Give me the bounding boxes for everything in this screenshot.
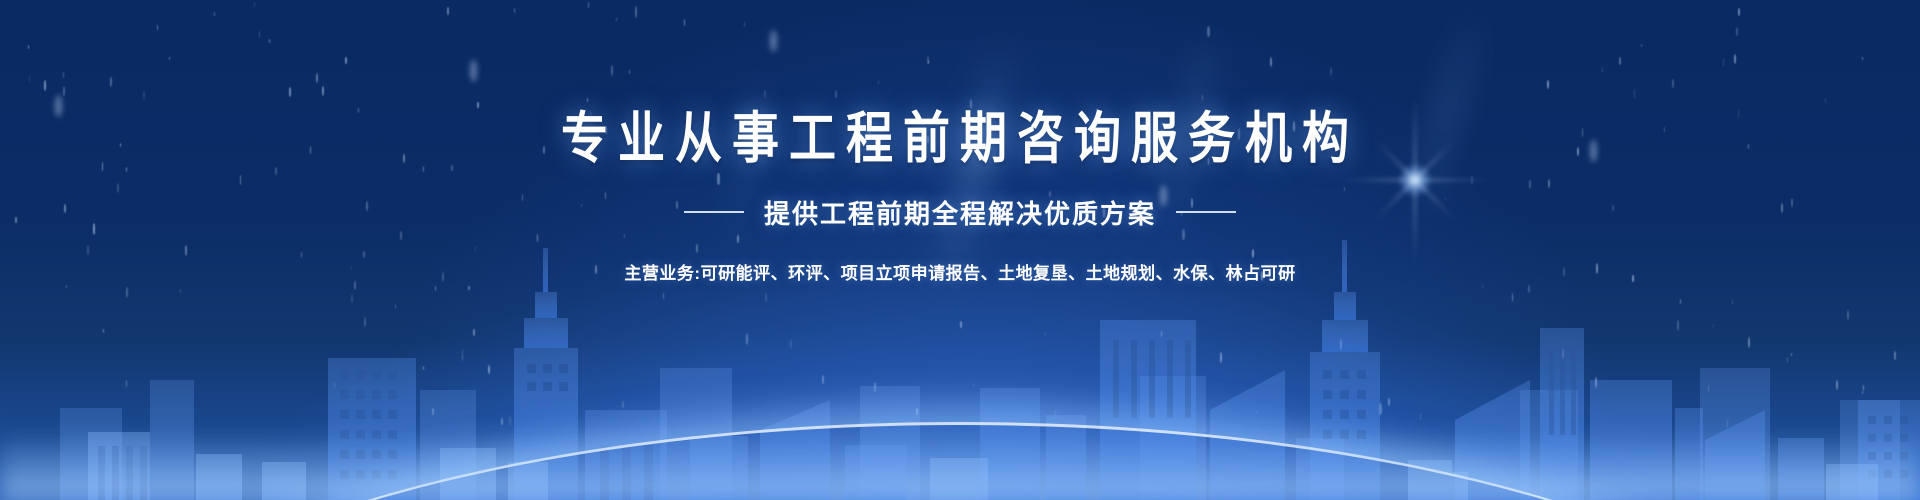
banner-business-line: 主营业务:可研能评、环评、项目立项申请报告、土地复垦、土地规划、水保、林占可研 [624,259,1295,284]
divider-dash-left-icon [684,211,744,213]
banner-headline: 专业从事工程前期咨询服务机构 [561,108,1359,169]
banner-subtitle-row: 提供工程前期全程解决优质方案 [684,194,1236,231]
banner-subtitle: 提供工程前期全程解决优质方案 [764,194,1156,231]
banner-content: 专业从事工程前期咨询服务机构 提供工程前期全程解决优质方案 主营业务:可研能评、… [0,0,1920,500]
hero-banner: 专业从事工程前期咨询服务机构 提供工程前期全程解决优质方案 主营业务:可研能评、… [0,0,1920,500]
divider-dash-right-icon [1176,211,1236,213]
